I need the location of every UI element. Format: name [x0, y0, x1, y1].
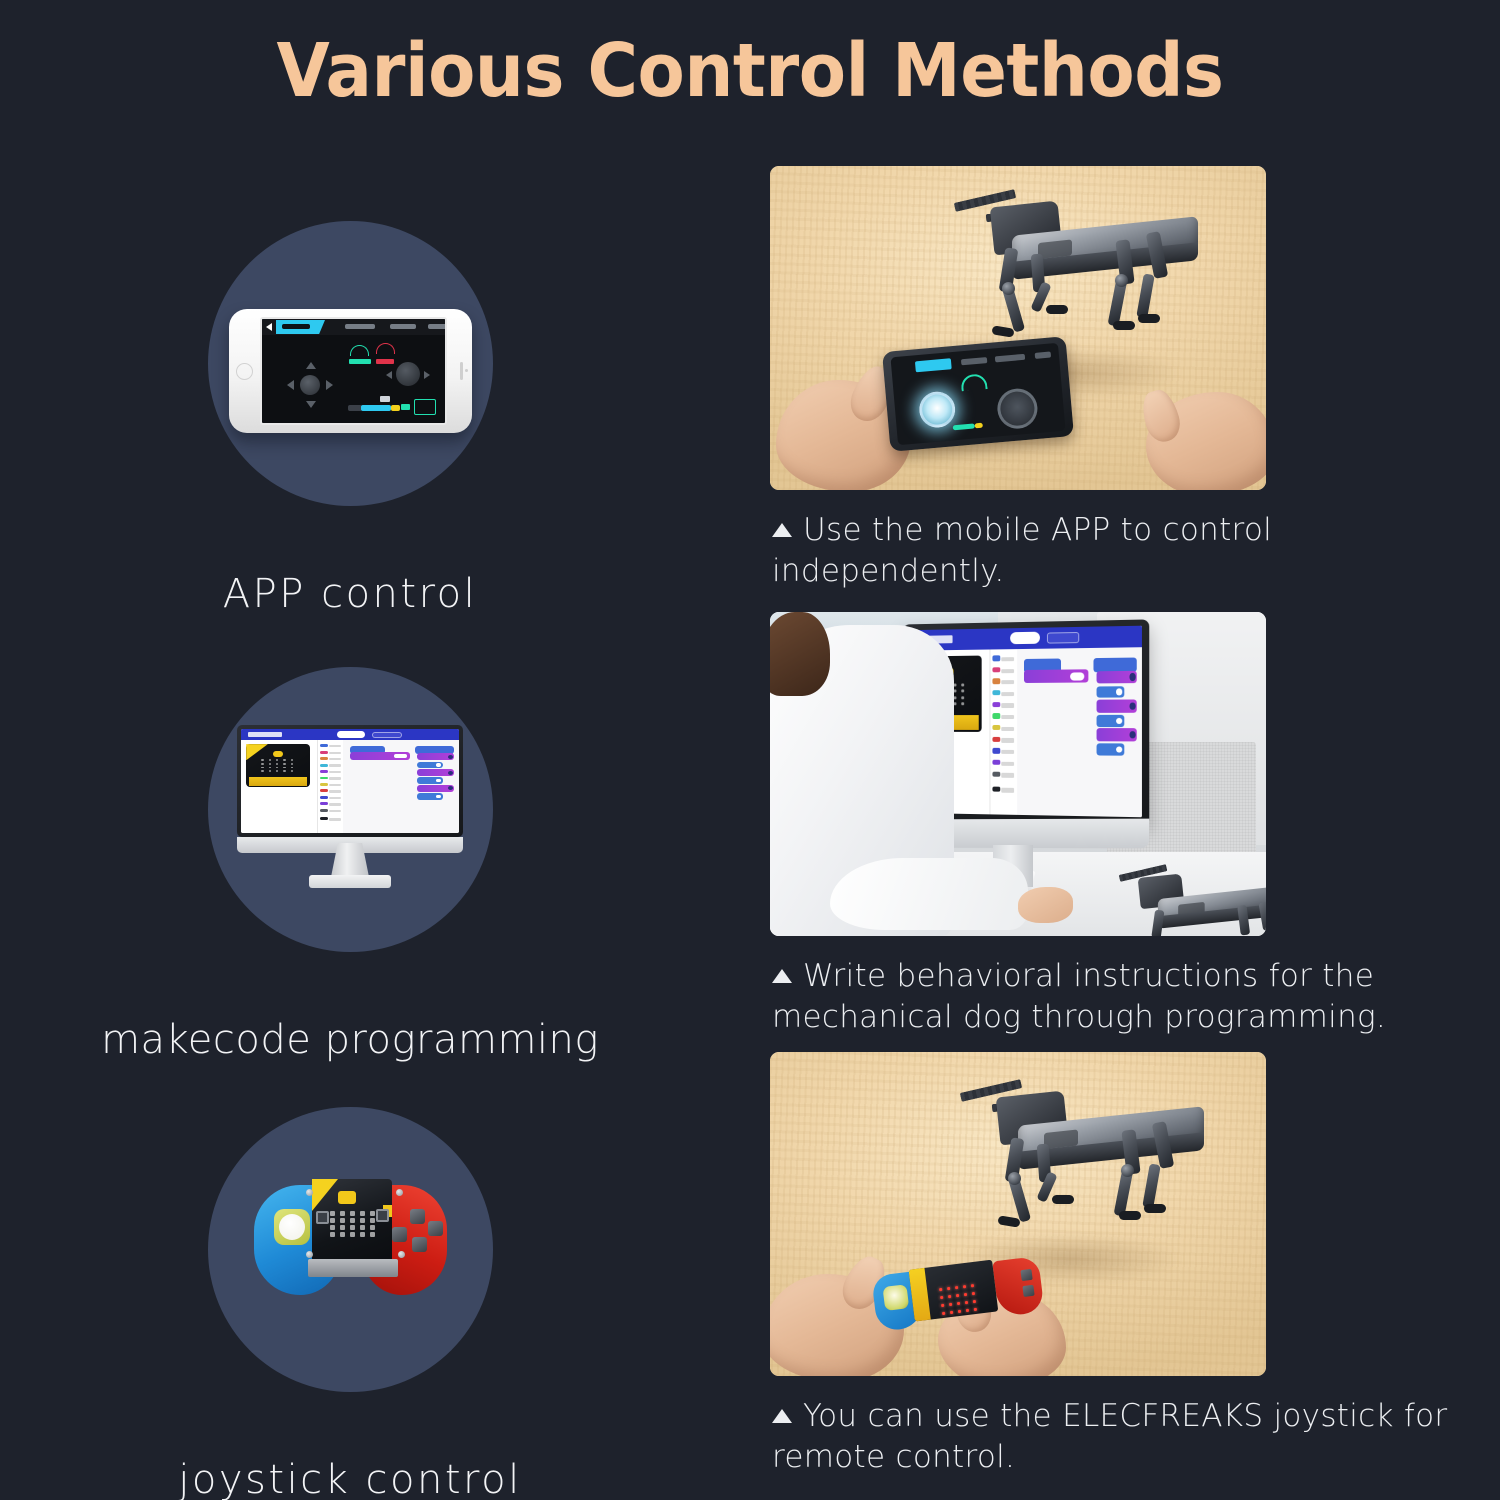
robot-leg-rr-lower — [1136, 273, 1154, 318]
slider-track — [348, 405, 362, 411]
caption-text: You can use the ELECFREAKS joystick for … — [772, 1398, 1447, 1475]
person-hand-on-mouse — [1018, 887, 1073, 923]
microbit-chip — [273, 751, 283, 757]
photo-column-joystick: You can use the ELECFREAKS joystick for … — [770, 1052, 1470, 1376]
joystick-left-icon — [386, 371, 392, 379]
action-button-2 — [428, 1221, 443, 1236]
action-button-2-photo — [1022, 1285, 1034, 1297]
blocks-canvas — [343, 740, 459, 833]
iphone-illustration — [229, 309, 472, 433]
method-label-app-control: APP control — [0, 571, 700, 617]
monitor-bezel — [237, 725, 463, 837]
robot-dog-on-desk — [1122, 867, 1242, 936]
smartphone-in-hands — [882, 336, 1074, 452]
microbit-yellow-corner — [246, 744, 268, 760]
button-b — [376, 1209, 389, 1222]
app-tab-2 — [961, 357, 987, 365]
right-grip-photo — [992, 1256, 1044, 1317]
button-a — [316, 1211, 329, 1224]
tab-4-label — [428, 324, 447, 329]
photo-column-app-control: Use the mobile APP to control independen… — [770, 166, 1470, 490]
camera-button-icon — [414, 399, 436, 415]
phone-screen — [260, 317, 447, 425]
home-button-icon — [236, 363, 253, 380]
app-joystick-knob — [996, 387, 1039, 430]
analog-stick-photo — [882, 1284, 909, 1311]
servo-block-2-photo — [1096, 699, 1137, 712]
action-button-1-photo — [1020, 1269, 1032, 1281]
caption-joystick: You can use the ELECFREAKS joystick for … — [772, 1396, 1472, 1478]
robot-foot-fl — [997, 1215, 1020, 1227]
robot-foot-rl — [1119, 1211, 1141, 1220]
robot-leg-a — [1151, 910, 1164, 936]
app-tab-4 — [1035, 352, 1051, 359]
caption-text: Write behavioral instructions for the me… — [772, 958, 1386, 1035]
microbit-pin-connector — [308, 1259, 398, 1277]
simulator-panel — [241, 740, 315, 833]
microbit-pin-strip — [249, 777, 308, 786]
triangle-bullet-icon — [772, 1409, 792, 1423]
javascript-toggle — [372, 732, 403, 738]
photo-app-control — [770, 166, 1266, 490]
method-label-makecode: makecode programming — [0, 1017, 700, 1063]
stand-mode-icon — [350, 345, 369, 356]
servo-block-3 — [417, 785, 454, 792]
product-feature-panel: Various Control Methods — [0, 0, 1500, 1500]
toolbox-panel — [317, 740, 343, 833]
pause-block-3-photo — [1096, 743, 1124, 755]
pause-block-2-photo — [1096, 715, 1124, 727]
robot-joint-fl — [1002, 282, 1015, 295]
robot-dog — [966, 1080, 1196, 1270]
analog-stick — [274, 1209, 310, 1245]
tab-2-label — [345, 324, 375, 329]
page-title: Various Control Methods — [53, 28, 1448, 114]
screw-top-left — [306, 1189, 313, 1196]
method-label-joystick: joystick control — [0, 1457, 700, 1500]
back-arrow-icon — [266, 323, 272, 331]
action-button-3 — [392, 1227, 407, 1242]
sit-mode-icon — [376, 343, 395, 354]
action-button-4 — [412, 1237, 427, 1252]
blocks-canvas-photo — [1017, 646, 1142, 816]
sit-mode-label — [376, 359, 394, 364]
robot-joint-rl — [1121, 1164, 1134, 1177]
dpad-hub — [300, 375, 320, 395]
volume-button-icon — [460, 362, 463, 380]
pause-block-1-photo — [1096, 686, 1124, 698]
screw-bottom-left — [306, 1251, 313, 1258]
photo-column-makecode: Write behavioral instructions for the me… — [770, 612, 1470, 936]
dpad-up-icon — [306, 362, 316, 369]
robot-foot-fr — [1046, 305, 1068, 314]
share-pill — [337, 731, 365, 738]
caption-makecode: Write behavioral instructions for the me… — [772, 956, 1472, 1038]
pause-block-1 — [417, 762, 442, 768]
javascript-toggle-photo — [1047, 631, 1080, 643]
dpad-left-icon — [287, 380, 294, 390]
robot-foot-rl — [1113, 321, 1135, 330]
photo-makecode-programming — [770, 612, 1266, 936]
app-stand-icon — [960, 373, 987, 391]
microbit-led-grid — [261, 759, 294, 773]
dpad-right-icon — [326, 380, 333, 390]
joystick-right-icon — [424, 371, 430, 379]
photo-joystick-control — [770, 1052, 1266, 1376]
smartphone-app-remote-icon — [208, 221, 493, 506]
screw-top-right — [396, 1189, 403, 1196]
gamepad-joystick-bit-icon — [208, 1107, 493, 1392]
app-dpad-glow — [918, 390, 957, 429]
robot-leg-rr-lower — [1142, 1163, 1160, 1208]
active-tab-label — [282, 324, 310, 329]
slider-knob — [391, 405, 400, 411]
monitor-base — [309, 875, 391, 888]
app-tab-3 — [995, 354, 1025, 363]
robot-foot-rr — [1144, 1204, 1166, 1213]
joystick-bit-illustration — [254, 1179, 447, 1297]
microbit-led-matrix — [330, 1211, 376, 1241]
record-indicator — [401, 404, 410, 410]
app-active-tab — [915, 358, 952, 372]
app-slider-fill — [953, 423, 975, 430]
robot-foot-rr — [1138, 314, 1160, 323]
caption-app-control: Use the mobile APP to control independen… — [772, 510, 1472, 592]
servo-block-1-photo — [1096, 670, 1137, 683]
triangle-bullet-icon — [772, 969, 792, 983]
camera-dot-icon — [465, 369, 468, 372]
dpad-down-icon — [306, 401, 316, 408]
microsoft-makecode-logo — [248, 732, 283, 737]
tab-3-label — [390, 324, 416, 329]
dpad-control — [286, 361, 334, 409]
triangle-bullet-icon — [772, 523, 792, 537]
smartphone-screen — [890, 343, 1065, 445]
slider-fill — [361, 405, 391, 411]
microbit-chip-big — [338, 1191, 356, 1204]
share-pill-photo — [1010, 632, 1040, 644]
app-slider-knob — [975, 423, 983, 429]
pause-block-2 — [417, 777, 442, 783]
servo-block-2 — [417, 769, 454, 776]
caption-text: Use the mobile APP to control independen… — [772, 512, 1272, 589]
slider-value — [380, 396, 390, 402]
makecode-header — [241, 729, 459, 740]
joystick-control-widget — [396, 362, 420, 386]
person-arm — [830, 858, 1028, 929]
imac-illustration — [237, 725, 463, 837]
servo-block-1 — [417, 753, 454, 760]
stand-mode-label — [349, 359, 371, 364]
toolbox-panel-photo — [989, 648, 1017, 814]
screw-bottom-right — [398, 1251, 405, 1258]
set-block-photo — [1024, 669, 1089, 683]
desktop-monitor-makecode-icon — [208, 667, 493, 952]
servo-block-3-photo — [1096, 728, 1137, 741]
robot-joint-rl — [1115, 274, 1128, 287]
pause-block-3 — [417, 793, 442, 799]
microbit-simulator — [246, 744, 310, 787]
action-button-1 — [410, 1209, 425, 1224]
makecode-editor-screen — [241, 729, 459, 833]
office-desk-scene — [770, 612, 1266, 936]
robot-foot-fl — [991, 325, 1014, 337]
set-block — [350, 752, 410, 759]
robot-joint-fl — [1008, 1172, 1021, 1185]
person-hair — [770, 612, 830, 696]
robot-foot-fr — [1052, 1195, 1074, 1204]
